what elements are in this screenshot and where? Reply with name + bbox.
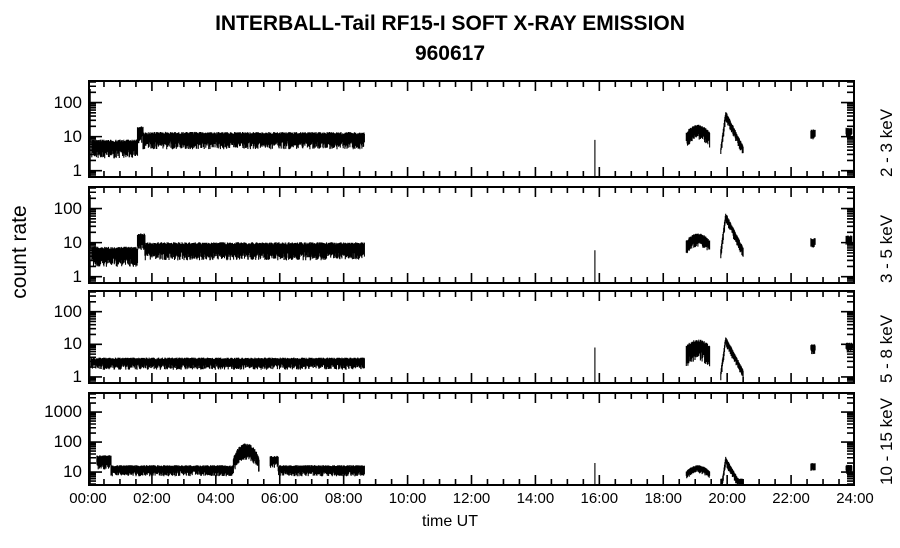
y-tick-label: 1	[20, 162, 82, 179]
y-tick-label: 100	[20, 200, 82, 217]
plot-panel-5-8-kev	[88, 290, 855, 384]
x-tick-label: 12:00	[453, 490, 491, 507]
y-tick-label: 10	[20, 463, 82, 480]
x-tick-label: 24:00	[836, 490, 874, 507]
plot-panel-10-15-kev	[88, 392, 855, 486]
x-tick-label: 10:00	[389, 490, 427, 507]
x-axis-label: time UT	[0, 513, 900, 531]
x-tick-label: 16:00	[581, 490, 619, 507]
y-tick-label: 100	[20, 94, 82, 111]
x-tick-label: 18:00	[644, 490, 682, 507]
x-tick-label: 08:00	[325, 490, 363, 507]
x-tick-label: 06:00	[261, 490, 299, 507]
x-tick-label: 14:00	[517, 490, 555, 507]
panel-energy-label: 3 - 5 keV	[877, 215, 897, 283]
x-tick-label: 22:00	[772, 490, 810, 507]
y-tick-label: 10	[20, 335, 82, 352]
figure-title-line1: INTERBALL-Tail RF15-I SOFT X-RAY EMISSIO…	[0, 12, 900, 36]
xray-lightcurve-figure: INTERBALL-Tail RF15-I SOFT X-RAY EMISSIO…	[0, 0, 900, 548]
y-tick-label: 10	[20, 128, 82, 145]
plot-panel-2-3-kev	[88, 80, 855, 178]
x-tick-label: 20:00	[708, 490, 746, 507]
x-tick-label: 00:00	[69, 490, 107, 507]
plot-panel-3-5-kev	[88, 186, 855, 284]
y-tick-label: 100	[20, 433, 82, 450]
x-tick-label: 04:00	[197, 490, 235, 507]
y-tick-label: 1	[20, 268, 82, 285]
x-tick-label: 02:00	[133, 490, 171, 507]
y-tick-label: 1	[20, 368, 82, 385]
panel-energy-label: 2 - 3 keV	[877, 109, 897, 177]
y-tick-label: 100	[20, 303, 82, 320]
figure-title-line2: 960617	[0, 42, 900, 66]
panel-energy-label: 5 - 8 keV	[877, 315, 897, 383]
y-tick-label: 1000	[20, 403, 82, 420]
panel-energy-label: 10 - 15 keV	[877, 398, 897, 485]
y-tick-label: 10	[20, 234, 82, 251]
